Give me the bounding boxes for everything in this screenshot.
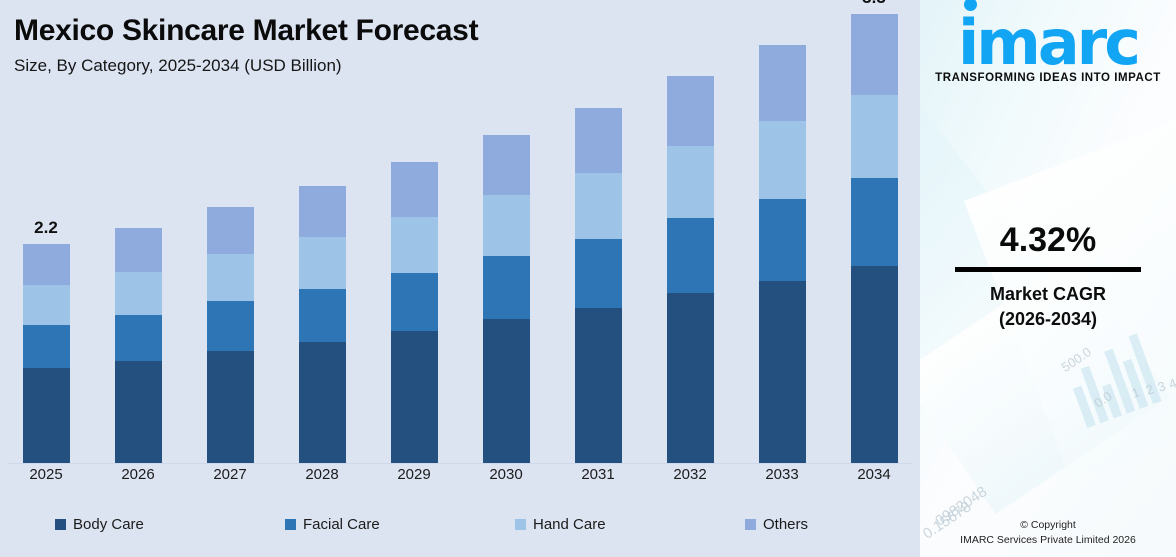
cagr-value: 4.32% [920, 222, 1176, 259]
imarc-logo: imarc TRANSFORMING IDEAS INTO IMPACT [920, 14, 1176, 84]
bar-segment-hand-care-2030[interactable] [483, 195, 530, 256]
bar-segment-body-care-2027[interactable] [207, 351, 254, 463]
x-tick-2025: 2025 [0, 466, 92, 483]
bar-segment-facial-care-2027[interactable] [207, 301, 254, 351]
bar-segment-body-care-2029[interactable] [391, 331, 438, 463]
bar-segment-facial-care-2029[interactable] [391, 273, 438, 332]
x-tick-2026: 2026 [92, 466, 184, 483]
cagr-block: 4.32% Market CAGR (2026-2034) [920, 222, 1176, 331]
bar-segment-facial-care-2026[interactable] [115, 315, 162, 361]
bar-segment-others-2032[interactable] [667, 76, 714, 146]
x-tick-2028: 2028 [276, 466, 368, 483]
bar-segment-hand-care-2031[interactable] [575, 173, 622, 239]
x-axis-labels: 2025202620272028202920302031203220332034 [0, 466, 920, 483]
bar-segment-body-care-2033[interactable] [759, 281, 806, 463]
legend-swatch-others [745, 519, 756, 530]
legend-swatch-facial-care [285, 519, 296, 530]
bar-slot-2029[interactable] [368, 104, 460, 463]
bar-segment-facial-care-2028[interactable] [299, 289, 346, 343]
stacked-bar-2025[interactable] [23, 244, 70, 463]
bar-slot-2030[interactable] [460, 104, 552, 463]
bar-segment-others-2028[interactable] [299, 186, 346, 237]
legend-swatch-hand-care [515, 519, 526, 530]
legend-item-facial-care[interactable]: Facial Care [230, 516, 460, 533]
copyright-line-1: © Copyright [920, 518, 1176, 534]
x-tick-2032: 2032 [644, 466, 736, 483]
plot-area: 2.23.3 [0, 104, 920, 464]
legend-label-body-care: Body Care [73, 516, 144, 533]
bar-slot-2026[interactable] [92, 104, 184, 463]
copyright-notice: © Copyright IMARC Services Private Limit… [920, 518, 1176, 550]
bar-segment-others-2026[interactable] [115, 228, 162, 272]
chart-screenshot: Mexico Skincare Market Forecast Size, By… [0, 0, 1176, 557]
chart-header: Mexico Skincare Market Forecast Size, By… [14, 14, 478, 76]
bar-slot-2028[interactable] [276, 104, 368, 463]
bar-slot-2032[interactable] [644, 104, 736, 463]
bar-segment-others-2030[interactable] [483, 135, 530, 195]
bar-segment-others-2033[interactable] [759, 45, 806, 121]
stacked-bar-2034[interactable] [851, 14, 898, 463]
bar-segment-hand-care-2029[interactable] [391, 217, 438, 273]
x-tick-2030: 2030 [460, 466, 552, 483]
legend-label-hand-care: Hand Care [533, 516, 606, 533]
cagr-period: (2026-2034) [920, 307, 1176, 331]
stacked-bar-2026[interactable] [115, 228, 162, 463]
cagr-divider [955, 267, 1141, 272]
bar-segment-body-care-2030[interactable] [483, 319, 530, 463]
page-title: Mexico Skincare Market Forecast [14, 14, 478, 49]
cagr-label: Market CAGR [920, 282, 1176, 306]
stacked-bar-2028[interactable] [299, 186, 346, 463]
bar-segment-others-2034[interactable] [851, 14, 898, 95]
chart-panel: Mexico Skincare Market Forecast Size, By… [0, 0, 920, 557]
bar-segment-others-2031[interactable] [575, 108, 622, 173]
x-tick-2027: 2027 [184, 466, 276, 483]
bar-segment-hand-care-2032[interactable] [667, 146, 714, 218]
bar-segment-body-care-2028[interactable] [299, 342, 346, 463]
bar-segment-others-2027[interactable] [207, 207, 254, 254]
legend-item-body-care[interactable]: Body Care [0, 516, 230, 533]
x-tick-2033: 2033 [736, 466, 828, 483]
copyright-line-2: IMARC Services Private Limited 2026 [920, 533, 1176, 549]
bar-segment-facial-care-2033[interactable] [759, 199, 806, 281]
bar-slot-2027[interactable] [184, 104, 276, 463]
bar-segment-facial-care-2034[interactable] [851, 178, 898, 266]
logo-wordmark: imarc [958, 14, 1138, 71]
bar-segment-facial-care-2030[interactable] [483, 256, 530, 320]
x-tick-2029: 2029 [368, 466, 460, 483]
bar-slot-2033[interactable] [736, 104, 828, 463]
bar-segment-hand-care-2028[interactable] [299, 237, 346, 289]
bar-segment-hand-care-2034[interactable] [851, 95, 898, 178]
bar-segment-facial-care-2032[interactable] [667, 218, 714, 294]
bar-segment-facial-care-2031[interactable] [575, 239, 622, 309]
bar-value-label-2034: 3.3 [862, 0, 886, 8]
stacked-bar-2033[interactable] [759, 45, 806, 463]
x-tick-2034: 2034 [828, 466, 920, 483]
bar-value-label-2025: 2.2 [34, 218, 58, 238]
bar-segment-body-care-2031[interactable] [575, 308, 622, 463]
bar-segment-body-care-2034[interactable] [851, 266, 898, 463]
bar-slot-2034[interactable]: 3.3 [828, 104, 920, 463]
bar-segment-body-care-2025[interactable] [23, 368, 70, 463]
bar-segment-facial-care-2025[interactable] [23, 325, 70, 368]
bar-segment-hand-care-2033[interactable] [759, 121, 806, 199]
bar-group: 2.23.3 [0, 104, 920, 463]
stacked-bar-2030[interactable] [483, 135, 530, 463]
stacked-bar-2029[interactable] [391, 162, 438, 463]
chart-legend: Body CareFacial CareHand CareOthers [0, 516, 920, 533]
stacked-bar-2027[interactable] [207, 207, 254, 463]
bar-segment-hand-care-2026[interactable] [115, 272, 162, 316]
bar-segment-body-care-2026[interactable] [115, 361, 162, 463]
brand-panel: 500.0 0.0 1 2 3 4 0982048 0.15678 imarc … [920, 0, 1176, 557]
x-tick-2031: 2031 [552, 466, 644, 483]
bar-segment-others-2029[interactable] [391, 162, 438, 217]
legend-item-hand-care[interactable]: Hand Care [460, 516, 690, 533]
axis-baseline [8, 463, 912, 464]
bar-segment-hand-care-2025[interactable] [23, 285, 70, 326]
page-subtitle: Size, By Category, 2025-2034 (USD Billio… [14, 56, 478, 76]
legend-item-others[interactable]: Others [690, 516, 920, 533]
legend-label-facial-care: Facial Care [303, 516, 380, 533]
legend-label-others: Others [763, 516, 808, 533]
stacked-bar-2031[interactable] [575, 108, 622, 463]
bar-slot-2031[interactable] [552, 104, 644, 463]
legend-swatch-body-care [55, 519, 66, 530]
stacked-bar-2032[interactable] [667, 76, 714, 463]
bar-segment-others-2025[interactable] [23, 244, 70, 285]
logo-text: imarc [958, 6, 1138, 79]
bar-slot-2025[interactable]: 2.2 [0, 104, 92, 463]
bar-segment-hand-care-2027[interactable] [207, 254, 254, 302]
bar-segment-body-care-2032[interactable] [667, 293, 714, 463]
